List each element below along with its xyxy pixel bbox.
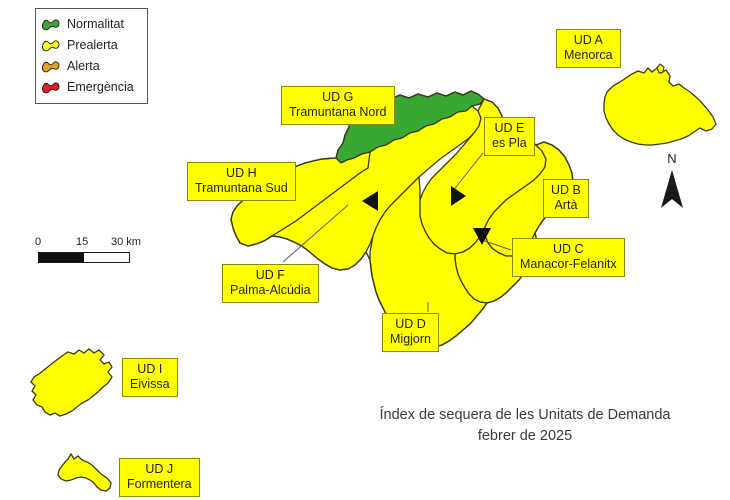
scale-bar-graphic: [38, 252, 130, 263]
legend-label-alerta: Alerta: [67, 60, 100, 73]
island-swatch-icon: [41, 39, 61, 53]
marker-triangle-ud-e: [451, 186, 466, 206]
region-label-ud-c-code: UD C: [520, 242, 617, 257]
region-label-ud-i-name: Eivissa: [130, 377, 170, 392]
region-label-ud-h-name: Tramuntana Sud: [195, 181, 288, 196]
leader-line-ud-c: [482, 240, 511, 250]
region-label-ud-d-code: UD D: [390, 317, 431, 332]
region-label-ud-c[interactable]: UD C Manacor-Felanitx: [512, 238, 625, 277]
region-label-ud-g[interactable]: UD G Tramuntana Nord: [281, 86, 395, 125]
region-label-ud-b[interactable]: UD B Artà: [543, 179, 589, 218]
leader-line-ud-f: [283, 205, 348, 262]
north-arrow-icon: [650, 168, 694, 215]
scale-tick-30: 30 km: [111, 236, 141, 248]
legend-label-emergencia: Emergència: [67, 81, 134, 94]
region-label-ud-g-code: UD G: [289, 90, 387, 105]
scale-bar-ticks: 0 15 30 km: [38, 236, 136, 250]
region-label-ud-b-code: UD B: [551, 183, 581, 198]
map-caption-line-1: Índex de sequera de les Unitats de Deman…: [355, 405, 695, 426]
leader-line-ud-e: [452, 153, 483, 192]
island-swatch-icon: [41, 81, 61, 95]
north-letter: N: [650, 152, 694, 165]
marker-triangle-ud-f: [362, 191, 378, 211]
map-caption-line-2: febrer de 2025: [355, 426, 695, 447]
region-label-ud-d[interactable]: UD D Migjorn: [382, 313, 439, 352]
map-caption: Índex de sequera de les Unitats de Deman…: [355, 405, 695, 447]
scale-segment-light: [84, 253, 129, 262]
region-label-ud-h[interactable]: UD H Tramuntana Sud: [187, 162, 296, 201]
north-arrow: N: [650, 152, 694, 215]
legend-label-prealerta: Prealerta: [67, 39, 118, 52]
region-label-ud-a[interactable]: UD A Menorca: [556, 29, 621, 68]
region-label-ud-j-code: UD J: [127, 462, 192, 477]
region-label-ud-b-name: Artà: [551, 198, 581, 213]
region-label-ud-f[interactable]: UD F Palma-Alcúdia: [222, 264, 319, 303]
region-label-ud-g-name: Tramuntana Nord: [289, 105, 387, 120]
region-label-ud-i[interactable]: UD I Eivissa: [122, 358, 178, 397]
region-label-ud-j[interactable]: UD J Formentera: [119, 458, 200, 497]
region-label-ud-e-code: UD E: [492, 121, 527, 136]
region-label-ud-j-name: Formentera: [127, 477, 192, 492]
region-label-ud-f-code: UD F: [230, 268, 311, 283]
legend-item-normalitat[interactable]: Normalitat: [41, 14, 141, 35]
map-canvas: UD A Menorca UD G Tramuntana Nord UD E e…: [0, 0, 730, 500]
legend-item-prealerta[interactable]: Prealerta: [41, 35, 141, 56]
region-label-ud-e-name: es Pla: [492, 136, 527, 151]
legend-item-alerta[interactable]: Alerta: [41, 56, 141, 77]
scale-tick-15: 15: [76, 236, 88, 248]
region-label-ud-f-name: Palma-Alcúdia: [230, 283, 311, 298]
region-label-ud-a-name: Menorca: [564, 48, 613, 63]
region-label-ud-d-name: Migjorn: [390, 332, 431, 347]
drought-status-legend: Normalitat Prealerta Alerta: [35, 8, 148, 104]
legend-label-normalitat: Normalitat: [67, 18, 124, 31]
legend-item-emergencia[interactable]: Emergència: [41, 77, 141, 98]
region-label-ud-a-code: UD A: [564, 33, 613, 48]
scale-bar: 0 15 30 km: [38, 236, 136, 263]
region-label-ud-c-name: Manacor-Felanitx: [520, 257, 617, 272]
scale-tick-0: 0: [35, 236, 41, 248]
island-swatch-icon: [41, 18, 61, 32]
region-label-ud-h-code: UD H: [195, 166, 288, 181]
scale-segment-dark: [39, 253, 84, 262]
region-label-ud-i-code: UD I: [130, 362, 170, 377]
island-swatch-icon: [41, 60, 61, 74]
region-label-ud-e[interactable]: UD E es Pla: [484, 117, 535, 156]
